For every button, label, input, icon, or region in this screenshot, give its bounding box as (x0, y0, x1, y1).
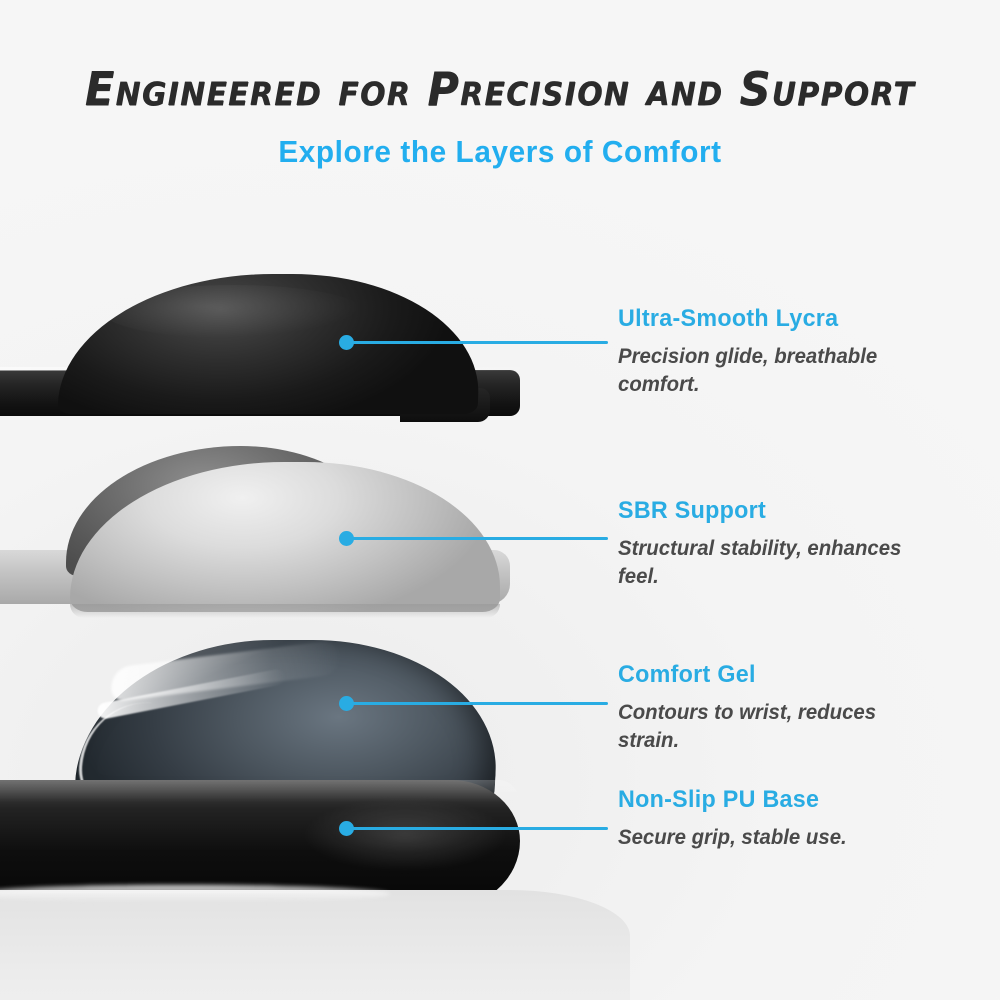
callout-connector-lycra (346, 341, 608, 344)
callout-description-gel: Contours to wrist, reduces strain. (618, 699, 938, 754)
page-subtitle: Explore the Layers of Comfort (20, 134, 980, 170)
callout-heading-pu-base: Non-Slip PU Base (618, 786, 819, 814)
callout-connector-gel (346, 702, 608, 705)
callout-description-lycra: Precision glide, breathable comfort. (618, 343, 938, 398)
callout-connector-sbr (346, 537, 608, 540)
callout-heading-sbr: SBR Support (618, 497, 766, 525)
page-title: Engineered for Precision and Support (35, 62, 965, 116)
callout-connector-pu-base (346, 827, 608, 830)
callout-description-sbr: Structural stability, enhances feel. (618, 535, 938, 590)
callout-description-pu-base: Secure grip, stable use. (618, 824, 938, 852)
callout-heading-lycra: Ultra-Smooth Lycra (618, 305, 838, 333)
product-image (0, 250, 620, 1000)
layer-pu-highlight (300, 798, 510, 872)
header: Engineered for Precision and Support Exp… (0, 0, 1000, 170)
callout-heading-gel: Comfort Gel (618, 661, 756, 689)
infographic-canvas: Engineered for Precision and Support Exp… (0, 0, 1000, 1000)
layer-lycra-dome (58, 274, 483, 414)
product-surface-shadow (0, 890, 630, 1000)
